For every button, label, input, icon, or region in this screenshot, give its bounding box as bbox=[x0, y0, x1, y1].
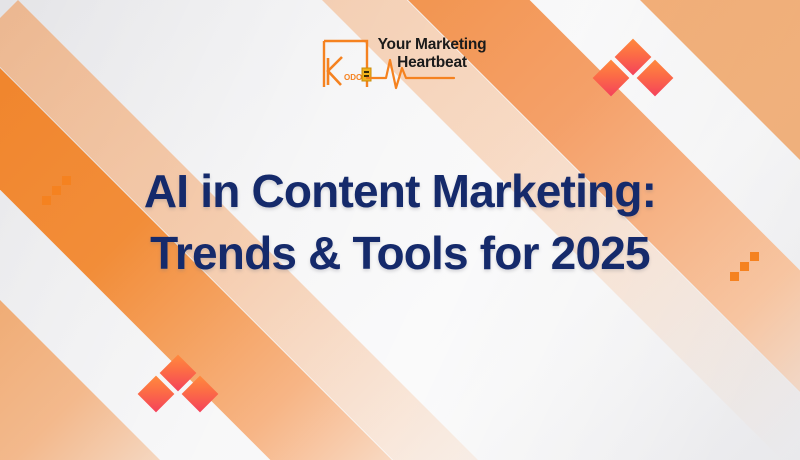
page-title-line1: AI in Content Marketing: bbox=[0, 160, 800, 222]
svg-text:ODO: ODO bbox=[344, 73, 362, 82]
slide-canvas: ODO Your Marketing Heartbeat AI in Conte… bbox=[0, 0, 800, 460]
diamond-cluster-top-right bbox=[598, 44, 668, 92]
logo-tagline: Your Marketing Heartbeat bbox=[374, 36, 490, 72]
brand-logo: ODO Your Marketing Heartbeat bbox=[318, 34, 490, 92]
logo-tagline-line1: Your Marketing bbox=[374, 36, 490, 54]
diamond-cluster-bottom-left bbox=[143, 360, 213, 408]
logo-mark-icon: ODO bbox=[318, 38, 370, 88]
page-title-line2: Trends & Tools for 2025 bbox=[0, 222, 800, 284]
logo-tagline-line2: Heartbeat bbox=[374, 54, 490, 72]
page-title: AI in Content Marketing: Trends & Tools … bbox=[0, 160, 800, 284]
